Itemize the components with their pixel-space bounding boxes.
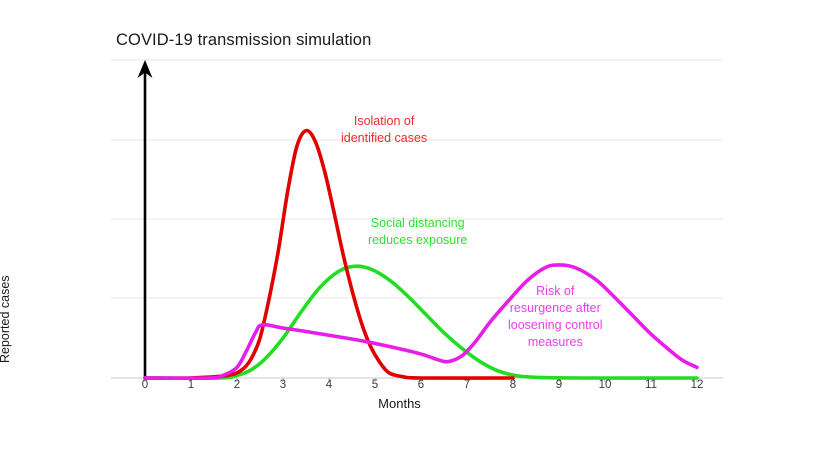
x-tick-label-6: 6 [418, 379, 424, 391]
x-axis-label-text: Months [378, 396, 421, 411]
annotation-line: measures [508, 334, 603, 351]
series-line-2 [145, 265, 697, 378]
annotation-line: Isolation of [341, 113, 427, 130]
x-tick-label-4: 4 [326, 379, 332, 391]
isolation-annotation: Isolation ofidentified cases [341, 113, 427, 147]
x-tick-label-12: 12 [691, 379, 704, 391]
x-tick-label-10: 10 [599, 379, 612, 391]
chart-container: COVID-19 transmission simulation Reporte… [0, 0, 819, 452]
x-tick-label-2: 2 [234, 379, 240, 391]
x-tick-label-7: 7 [464, 379, 470, 391]
series-line-0 [145, 131, 513, 379]
x-tick-label-5: 5 [372, 379, 378, 391]
annotation-line: Social distancing [368, 215, 467, 232]
x-tick-label-9: 9 [556, 379, 562, 391]
x-tick-label-8: 8 [510, 379, 516, 391]
y-axis-label: Reported cases [0, 163, 12, 363]
annotation-line: Risk of [508, 283, 603, 300]
social-distancing-annotation: Social distancingreduces exposure [368, 215, 467, 249]
x-axis-label: Months [0, 396, 819, 411]
series-line-1 [145, 266, 697, 378]
chart-title: COVID-19 transmission simulation [116, 31, 371, 50]
annotation-line: identified cases [341, 130, 427, 147]
annotation-line: loosening control [508, 317, 603, 334]
x-tick-label-0: 0 [142, 379, 148, 391]
resurgence-annotation: Risk ofresurgence afterloosening control… [508, 283, 603, 351]
x-tick-label-11: 11 [645, 379, 657, 391]
x-tick-label-3: 3 [280, 379, 286, 391]
annotation-line: resurgence after [508, 300, 603, 317]
annotation-line: reduces exposure [368, 232, 467, 249]
x-tick-label-1: 1 [188, 379, 194, 391]
gridlines [111, 60, 723, 298]
data-series-group [145, 131, 697, 379]
